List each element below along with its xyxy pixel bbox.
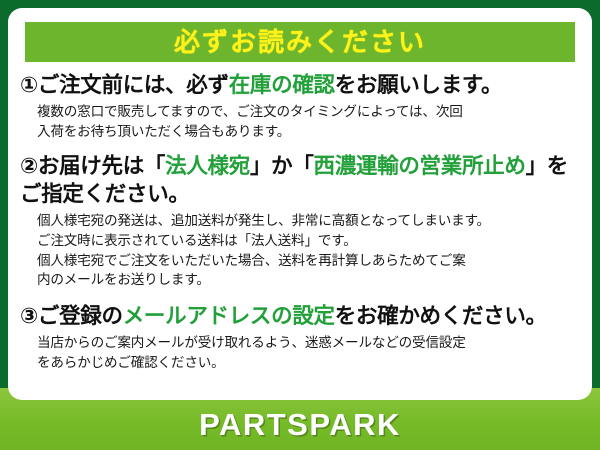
notice-item-2-marker: ② <box>20 154 38 178</box>
notice-item-3-head-before: ご登録の <box>38 304 123 328</box>
notice-item-1-subline-1: 複数の窓口で販売してますので、ご注文のタイミングによっては、次回 <box>37 102 580 122</box>
notice-card: 必ずお読みください ①ご注文前には、必ず在庫の確認をお願いします。 複数の窓口で… <box>8 8 592 400</box>
title-bar: 必ずお読みください <box>25 22 575 62</box>
notice-item-2: ②お届け先は「法人様宛」か「西濃運輸の営業所止め」をご指定ください。 個人様宅宛… <box>20 153 580 290</box>
notice-item-2-highlight-1: 法人様宛 <box>165 154 250 178</box>
notice-item-2-quote-open-1: 「 <box>144 154 165 178</box>
notice-item-2-quote-open-2: 「 <box>292 154 313 178</box>
notice-item-1-head-after: をお願いします。 <box>335 73 502 97</box>
notice-item-2-head-before: お届け先は <box>38 154 144 178</box>
notice-item-1-heading: ①ご注文前には、必ず在庫の確認をお願いします。 <box>20 72 580 100</box>
notice-item-1: ①ご注文前には、必ず在庫の確認をお願いします。 複数の窓口で販売してますので、ご… <box>20 72 580 141</box>
notice-item-3-subline-2: をあらかじめご確認ください。 <box>37 353 580 373</box>
notice-item-2-highlight-2: 西濃運輸の営業所止め <box>314 154 526 178</box>
notice-item-2-subline-4: 内のメールをお送りします。 <box>37 270 580 290</box>
notice-item-3-heading: ③ご登録のメールアドレスの設定をお確かめください。 <box>20 303 580 331</box>
brand-footer: PARTSPARK <box>0 400 600 450</box>
notice-body: ①ご注文前には、必ず在庫の確認をお願いします。 複数の窓口で販売してますので、ご… <box>8 62 592 372</box>
notice-item-2-subline-3: 個人様宅宛でご注文をいただいた場合、送料を再計算しあらためてご案 <box>37 251 580 271</box>
notice-item-3-head-after: をお確かめください。 <box>335 304 547 328</box>
notice-item-3-subtext: 当店からのご案内メールが受け取れるよう、迷惑メールなどの受信設定 をあらかじめご… <box>37 333 580 372</box>
notice-item-1-subtext: 複数の窓口で販売してますので、ご注文のタイミングによっては、次回 入荷をお待ち頂… <box>37 102 580 141</box>
notice-item-2-subtext: 個人様宅宛の発送は、追加送料が発生し、非常に高額となってしまいます。 ご注文時に… <box>37 211 580 290</box>
page-title: 必ずお読みください <box>174 29 426 55</box>
notice-item-1-head-before: ご注文前には、必ず <box>38 73 229 97</box>
brand-name: PARTSPARK <box>199 407 401 443</box>
notice-item-3-marker: ③ <box>20 304 38 328</box>
notice-item-3-subline-1: 当店からのご案内メールが受け取れるよう、迷惑メールなどの受信設定 <box>37 333 580 353</box>
notice-item-2-quote-close-1: 」 <box>250 154 271 178</box>
notice-item-3-highlight: メールアドレスの設定 <box>123 304 335 328</box>
notice-banner: 必ずお読みください ①ご注文前には、必ず在庫の確認をお願いします。 複数の窓口で… <box>0 0 600 450</box>
notice-item-1-subline-2: 入荷をお待ち頂いただく場合もあります。 <box>37 122 580 142</box>
notice-item-2-heading: ②お届け先は「法人様宛」か「西濃運輸の営業所止め」をご指定ください。 <box>20 153 580 209</box>
notice-item-2-head-middle: か <box>271 154 292 178</box>
notice-item-2-subline-2: ご注文時に表示されている送料は「法人送料」です。 <box>37 231 580 251</box>
notice-item-3: ③ご登録のメールアドレスの設定をお確かめください。 当店からのご案内メールが受け… <box>20 303 580 372</box>
notice-item-1-highlight: 在庫の確認 <box>229 73 335 97</box>
notice-item-2-quote-close-2: 」 <box>526 154 547 178</box>
notice-item-2-subline-1: 個人様宅宛の発送は、追加送料が発生し、非常に高額となってしまいます。 <box>37 211 580 231</box>
notice-item-1-marker: ① <box>20 73 38 97</box>
